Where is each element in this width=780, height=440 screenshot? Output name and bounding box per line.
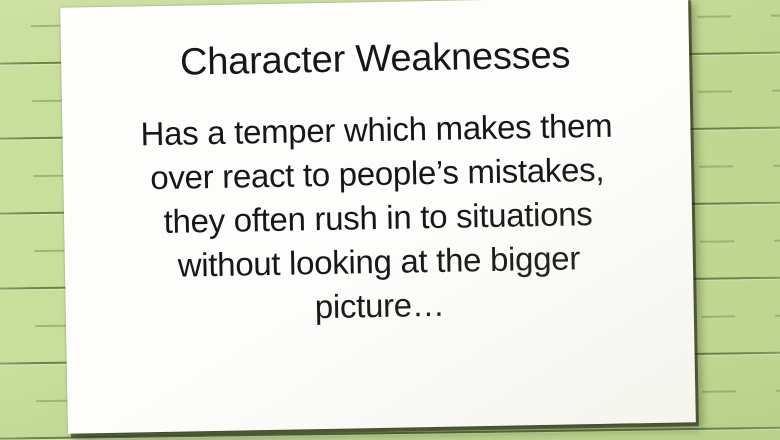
note-card-content: Character Weaknesses Has a temper which … xyxy=(60,0,694,334)
slide-scene: Character Weaknesses Has a temper which … xyxy=(0,0,780,440)
note-title: Character Weaknesses xyxy=(60,0,689,86)
note-body: Has a temper which makes them over react… xyxy=(62,74,694,333)
white-note-card: Character Weaknesses Has a temper which … xyxy=(60,0,696,434)
